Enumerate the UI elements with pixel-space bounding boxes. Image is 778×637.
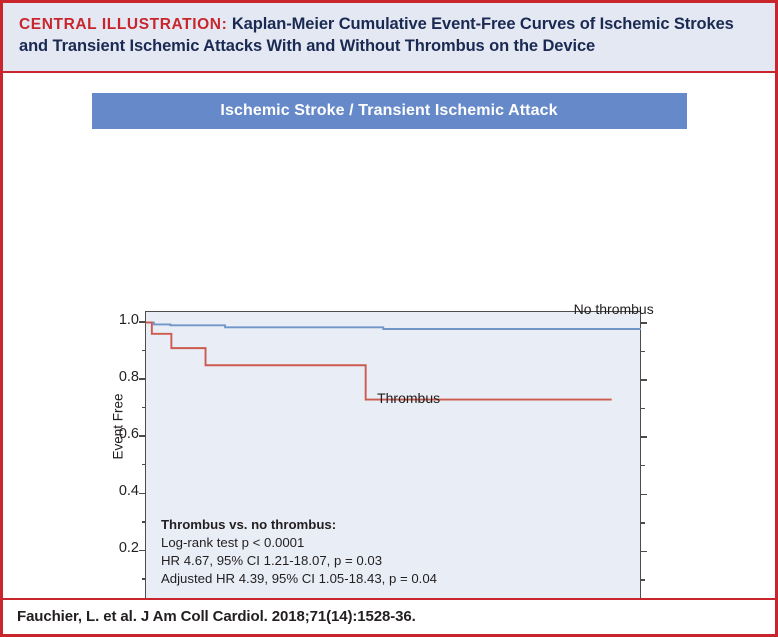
citation-text: Fauchier, L. et al. J Am Coll Cardiol. 2… <box>17 608 416 625</box>
curve-label-no-thrombus: No thrombus <box>574 301 654 317</box>
page-title: CENTRAL ILLUSTRATION: Kaplan-Meier Cumul… <box>19 14 759 58</box>
y-minor-tick-mark <box>142 407 147 408</box>
central-illustration-tag: CENTRAL ILLUSTRATION: <box>19 16 227 33</box>
statistics-annotation: Thrombus vs. no thrombus:Log-rank test p… <box>161 516 437 589</box>
y-tick-mark <box>139 378 146 380</box>
y-tick-mark <box>139 321 146 323</box>
y-minor-tick-mark <box>142 578 147 579</box>
kaplan-meier-chart: 0.00.20.40.60.81.0 Event Free 06121824 M… <box>3 129 778 549</box>
statistics-line: Adjusted HR 4.39, 95% CI 1.05-18.43, p =… <box>161 570 437 588</box>
y-tick-mark <box>139 493 146 495</box>
y-tick-mark-right <box>640 322 647 324</box>
figure-header: CENTRAL ILLUSTRATION: Kaplan-Meier Cumul… <box>3 3 775 73</box>
statistics-line: Thrombus vs. no thrombus: <box>161 516 437 534</box>
y-tick-mark-right <box>640 551 647 553</box>
statistics-line: HR 4.67, 95% CI 1.21-18.07, p = 0.03 <box>161 552 437 570</box>
y-minor-tick-mark <box>142 464 147 465</box>
statistics-line: Log-rank test p < 0.0001 <box>161 534 437 552</box>
y-tick-mark <box>139 550 146 552</box>
km-curve-thrombus <box>145 322 612 399</box>
y-axis-title: Event Free <box>111 393 126 459</box>
y-tick-mark <box>139 435 146 437</box>
panel-title-label: Ischemic Stroke / Transient Ischemic Att… <box>220 102 557 120</box>
central-illustration-figure: CENTRAL ILLUSTRATION: Kaplan-Meier Cumul… <box>0 0 778 637</box>
y-tick-label: 0.8 <box>99 369 139 385</box>
y-tick-mark-right <box>640 494 647 496</box>
y-tick-label: 0.4 <box>99 483 139 499</box>
km-curve-no-thrombus <box>145 322 641 329</box>
y-minor-tick-mark <box>142 521 147 522</box>
curve-label-thrombus: Thrombus <box>377 390 440 406</box>
y-tick-label: 1.0 <box>99 312 139 328</box>
figure-footer: Fauchier, L. et al. J Am Coll Cardiol. 2… <box>3 598 778 634</box>
y-tick-mark-right <box>640 379 647 381</box>
panel-title-bar: Ischemic Stroke / Transient Ischemic Att… <box>92 93 687 129</box>
y-tick-mark-right <box>640 436 647 438</box>
y-tick-label: 0.2 <box>99 540 139 556</box>
panel-title-bar-wrap: Ischemic Stroke / Transient Ischemic Att… <box>3 73 775 129</box>
y-minor-tick-mark <box>142 350 147 351</box>
